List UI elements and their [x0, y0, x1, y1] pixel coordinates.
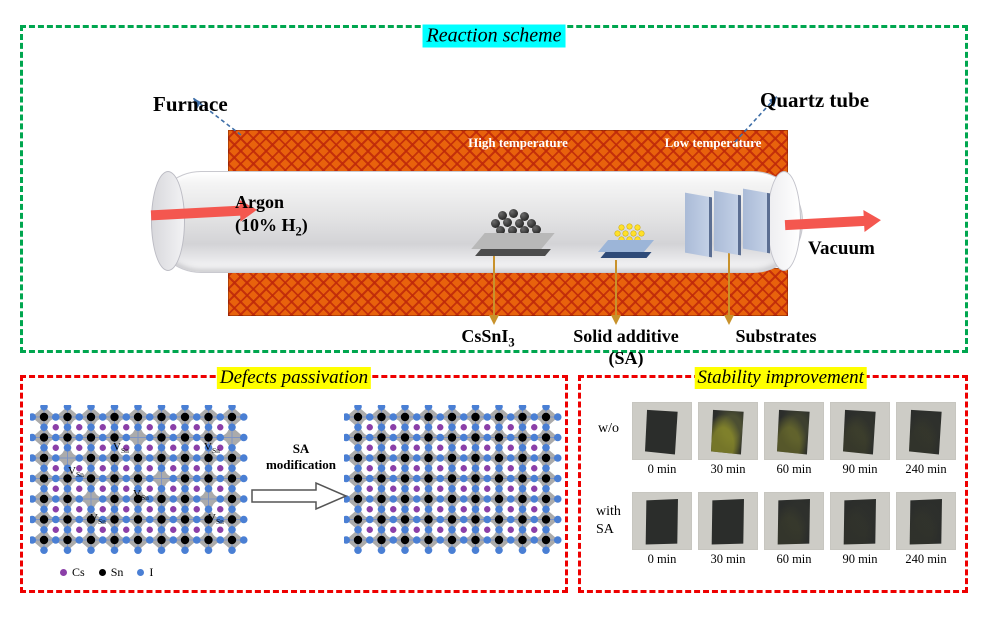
passivated-lattice-diagram — [344, 405, 562, 563]
sample-photos-without-sa — [632, 402, 956, 460]
perovskite-film-sample — [777, 409, 811, 455]
time-labels-without-sa: 0 min30 min60 min90 min240 min — [632, 462, 956, 477]
argon-h2-pre: (10% H — [235, 215, 296, 235]
vacancy-label-2: VSn — [204, 441, 220, 455]
time-label: 0 min — [632, 462, 692, 477]
perovskite-film-sample — [843, 409, 877, 455]
argon-gas-label: Argon (10% H2) — [235, 191, 308, 240]
defective-lattice-diagram — [30, 405, 248, 563]
solid-additive-label: Solid additive (SA) — [541, 326, 711, 369]
substrates-callout-line — [728, 250, 730, 316]
lattice-legend: Cs Sn I — [60, 565, 153, 580]
defects-passivation-title: Defects passivation — [217, 367, 371, 389]
precursor-formula-pre: CsSnI — [461, 326, 508, 346]
perovskite-film-sample — [645, 409, 679, 455]
precursor-boat — [478, 233, 548, 256]
sample-photo — [698, 402, 758, 460]
high-temperature-label: High temperature — [448, 136, 588, 150]
time-label: 240 min — [896, 462, 956, 477]
perovskite-film-sample — [777, 499, 811, 545]
time-label: 240 min — [896, 552, 956, 567]
reaction-scheme-title: Reaction scheme — [423, 25, 566, 48]
vacancy-label-6: VSn — [208, 512, 224, 526]
time-label: 60 min — [764, 462, 824, 477]
quartz-tube-label: Quartz tube — [760, 88, 869, 113]
solid-additive-boat — [603, 240, 649, 258]
legend-label-cs: Cs — [72, 565, 85, 580]
sample-photo — [632, 402, 692, 460]
substrate-plate-1 — [685, 193, 712, 258]
reaction-scheme-panel: Reaction scheme High temperature Low tem… — [20, 25, 968, 353]
sample-photo — [830, 492, 890, 550]
time-label: 0 min — [632, 552, 692, 567]
time-label: 30 min — [698, 462, 758, 477]
precursor-boat-edge — [475, 249, 551, 256]
time-labels-with-sa: 0 min30 min60 min90 min240 min — [632, 552, 956, 567]
solid-additive-label-line1: Solid additive — [541, 326, 711, 348]
time-label: 60 min — [764, 552, 824, 567]
i-color-swatch — [137, 569, 144, 576]
sample-photo — [830, 402, 890, 460]
sa-modification-label: SA modification — [246, 441, 356, 474]
furnace-bottom-block — [228, 268, 788, 316]
vacancy-label-4: VSn — [133, 488, 149, 502]
perovskite-film-sample — [909, 409, 943, 455]
substrate-plate-2 — [714, 191, 741, 256]
sample-photo — [764, 492, 824, 550]
substrate-plate-3 — [743, 189, 770, 254]
vacancy-label-1: VSn — [113, 441, 129, 455]
row-label-with-sa-line2: SA — [596, 521, 621, 539]
time-label: 90 min — [830, 462, 890, 477]
perovskite-film-sample — [711, 409, 745, 455]
precursor-callout-line — [493, 253, 495, 316]
argon-label-line1: Argon — [235, 191, 308, 214]
perovskite-film-sample — [843, 499, 877, 545]
sa-modification-line1: SA — [246, 441, 356, 457]
sa-modification-line2: modification — [246, 457, 356, 473]
precursor-label: CsSnI3 — [423, 326, 553, 351]
sample-photo — [764, 402, 824, 460]
sample-photo — [698, 492, 758, 550]
row-label-with-sa: with SA — [596, 503, 621, 538]
perovskite-film-sample — [645, 499, 679, 545]
sample-photo — [896, 492, 956, 550]
legend-item-sn: Sn — [99, 565, 124, 580]
legend-item-i: I — [137, 565, 153, 580]
substrates-label: Substrates — [701, 326, 851, 348]
solid-additive-callout-line — [615, 260, 617, 316]
legend-item-cs: Cs — [60, 565, 85, 580]
precursor-formula-subscript: 3 — [508, 336, 514, 350]
row-label-with-sa-line1: with — [596, 503, 621, 521]
sa-modification-arrow — [250, 481, 350, 516]
legend-label-sn: Sn — [111, 565, 124, 580]
solid-additive-label-line2: (SA) — [541, 348, 711, 370]
argon-h2-post: ) — [302, 215, 308, 235]
quartz-tube-left-opening — [151, 171, 185, 271]
precursor-boat-surface — [471, 233, 554, 249]
time-label: 30 min — [698, 552, 758, 567]
furnace-label: Furnace — [153, 92, 228, 117]
vacancy-label-5: VSn — [90, 512, 106, 526]
row-label-without-sa: w/o — [598, 420, 619, 438]
solid-additive-boat-edge — [600, 252, 651, 258]
perovskite-film-sample — [711, 499, 745, 545]
vacuum-label: Vacuum — [808, 238, 875, 260]
sample-photo — [632, 492, 692, 550]
sample-photos-with-sa — [632, 492, 956, 550]
cs-color-swatch — [60, 569, 67, 576]
legend-label-i: I — [149, 565, 153, 580]
sn-color-swatch — [99, 569, 106, 576]
vacancy-label-3: VSn — [68, 465, 84, 479]
perovskite-film-sample — [909, 499, 943, 545]
row-label-without-sa-line1: w/o — [598, 420, 619, 438]
stability-improvement-title: Stability improvement — [694, 367, 867, 389]
time-label: 90 min — [830, 552, 890, 567]
argon-label-line2: (10% H2) — [235, 214, 308, 240]
sample-photo — [896, 402, 956, 460]
solid-additive-boat-surface — [598, 240, 654, 252]
